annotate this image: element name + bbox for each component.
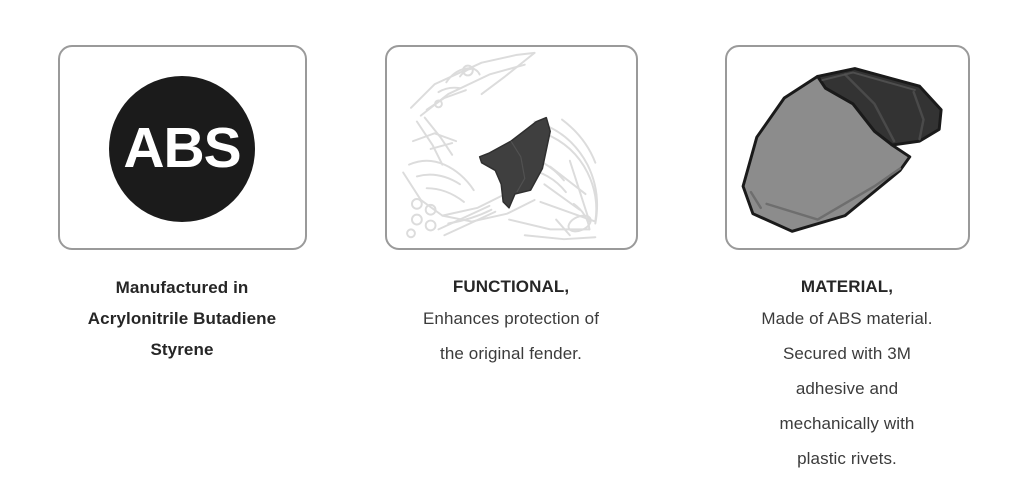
- feature-line-1: Made of ABS material.: [712, 301, 982, 336]
- feature-line-5: plastic rivets.: [712, 441, 982, 476]
- feature-line-3: adhesive and: [712, 371, 982, 406]
- abs-badge-icon: ABS: [109, 76, 255, 222]
- feature-line-2: the original fender.: [366, 336, 656, 371]
- feature-heading: MATERIAL,: [712, 272, 982, 301]
- fender-part-shape: [479, 118, 550, 208]
- fender-extender-part-icon: [727, 47, 968, 248]
- abs-badge-label: ABS: [123, 120, 240, 177]
- feature-panels: ABS Manufactured in Acrylonitrile Butadi…: [0, 0, 1024, 503]
- feature-line-2: Secured with 3M: [712, 336, 982, 371]
- feature-line-3: Styrene: [32, 334, 332, 365]
- feature-line-1: Manufactured in: [32, 272, 332, 303]
- feature-columns: ABS Manufactured in Acrylonitrile Butadi…: [0, 0, 1024, 503]
- feature-column-material: MATERIAL, Made of ABS material. Secured …: [670, 0, 1024, 476]
- feature-column-functional: FUNCTIONAL, Enhances protection of the o…: [352, 0, 670, 371]
- feature-heading: FUNCTIONAL,: [366, 272, 656, 301]
- feature-column-abs-material: ABS Manufactured in Acrylonitrile Butadi…: [0, 0, 352, 365]
- feature-line-1: Enhances protection of: [366, 301, 656, 336]
- motorcycle-line-art-icon: [387, 47, 636, 248]
- card-material: [725, 45, 970, 250]
- text-block-abs-material: Manufactured in Acrylonitrile Butadiene …: [32, 272, 332, 365]
- card-abs-material: ABS: [58, 45, 307, 250]
- feature-line-4: mechanically with: [712, 406, 982, 441]
- text-block-material: MATERIAL, Made of ABS material. Secured …: [712, 272, 982, 476]
- text-block-functional: FUNCTIONAL, Enhances protection of the o…: [366, 272, 656, 371]
- feature-line-2: Acrylonitrile Butadiene: [32, 303, 332, 334]
- card-functional: [385, 45, 638, 250]
